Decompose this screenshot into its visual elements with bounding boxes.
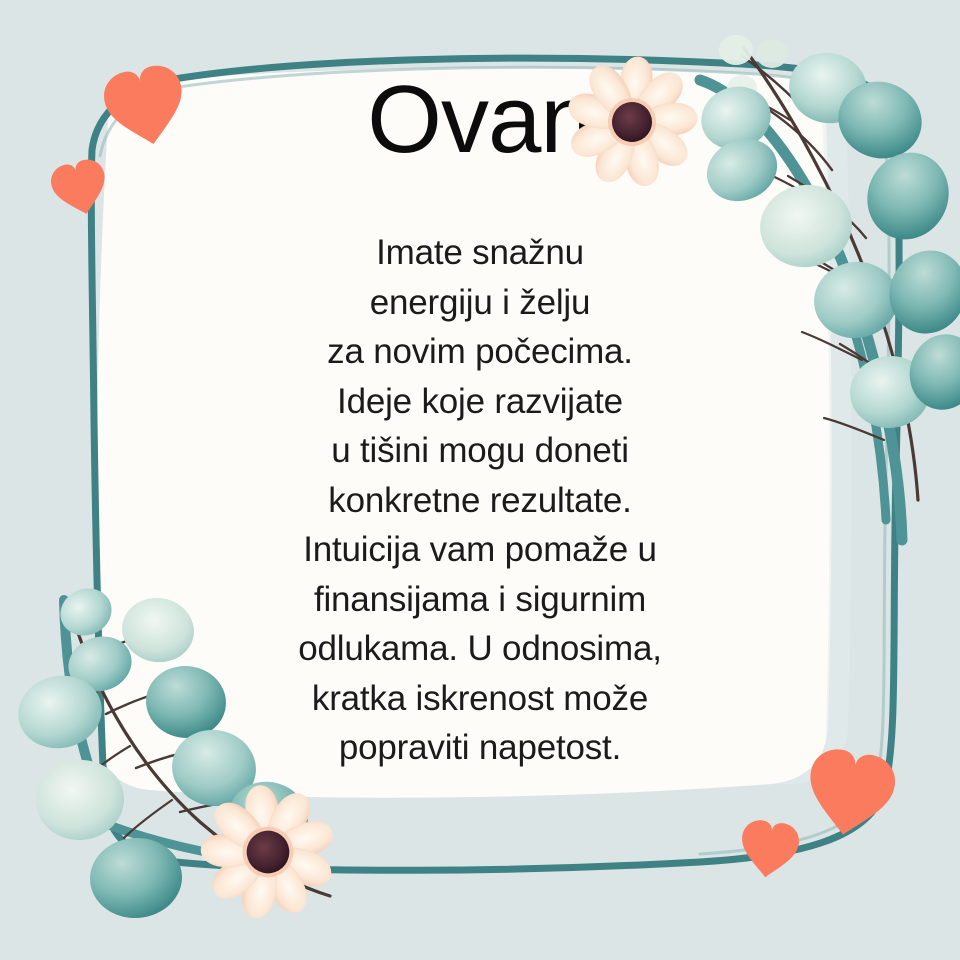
anemone-flower-top xyxy=(558,50,706,196)
anemone-flower-bottom xyxy=(190,776,346,930)
heart-top-left-large xyxy=(99,61,191,152)
heart-bottom-right-small xyxy=(737,818,801,881)
zodiac-card-image: Ovan Imate snažnuenergiju i željuza novi… xyxy=(0,0,960,960)
ornament-layer-front xyxy=(0,0,960,960)
heart-bottom-right-large xyxy=(801,745,899,842)
heart-top-left-small xyxy=(47,156,112,220)
